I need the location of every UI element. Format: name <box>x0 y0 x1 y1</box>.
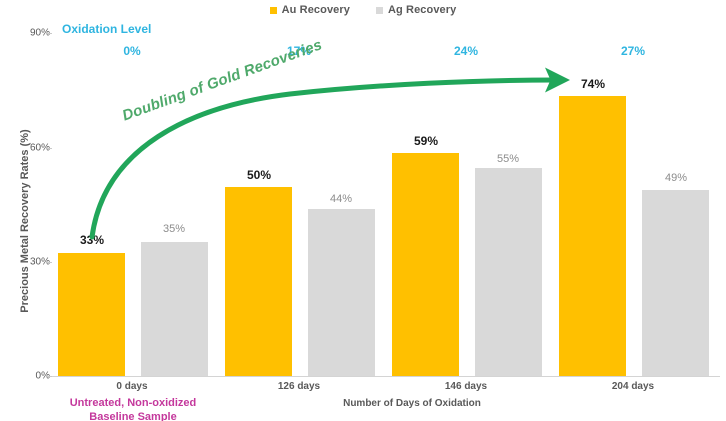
x-category-204-days: 204 days <box>588 381 678 392</box>
bar-ag-204-days[interactable] <box>642 190 709 376</box>
oxidation-value-0: 0% <box>102 44 162 58</box>
legend-label-au: Au Recovery <box>282 4 350 16</box>
bar-ag-146-days[interactable] <box>475 168 542 376</box>
bar-label-au-146-days: 59% <box>414 134 438 148</box>
recovery-rates-chart: Au Recovery Ag Recovery Oxidation Level … <box>0 0 726 421</box>
y-tick-90: 90% <box>10 28 50 39</box>
bar-ag-0-days[interactable] <box>141 242 208 376</box>
baseline-note-line-2: Baseline Sample <box>42 410 224 421</box>
square-swatch-icon <box>376 7 383 14</box>
bar-au-146-days[interactable] <box>392 153 459 376</box>
chart-legend: Au Recovery Ag Recovery <box>0 4 726 16</box>
oxidation-value-3: 27% <box>603 44 663 58</box>
bar-label-au-0-days: 33% <box>80 233 104 247</box>
y-axis-title: Precious Metal Recovery Rates (%) <box>19 76 31 366</box>
x-category-0-days: 0 days <box>87 381 177 392</box>
oxidation-level-title: Oxidation Level <box>62 22 151 36</box>
bar-ag-126-days[interactable] <box>308 209 375 376</box>
bar-label-ag-126-days: 44% <box>330 193 352 205</box>
bar-label-au-126-days: 50% <box>247 168 271 182</box>
bar-au-0-days[interactable] <box>58 253 125 376</box>
y-tick-mark-30 <box>48 262 52 263</box>
bar-label-au-204-days: 74% <box>581 77 605 91</box>
legend-item-au[interactable]: Au Recovery <box>270 4 350 16</box>
bar-au-126-days[interactable] <box>225 187 292 376</box>
square-swatch-icon <box>270 7 277 14</box>
bar-au-204-days[interactable] <box>559 96 626 376</box>
legend-label-ag: Ag Recovery <box>388 4 456 16</box>
y-tick-mark-60 <box>48 148 52 149</box>
oxidation-value-2: 24% <box>436 44 496 58</box>
bar-label-ag-204-days: 49% <box>665 172 687 184</box>
y-tick-0: 0% <box>10 371 50 382</box>
baseline-note-line-1: Untreated, Non-oxidized <box>42 396 224 410</box>
x-axis-line <box>52 376 720 377</box>
x-category-146-days: 146 days <box>421 381 511 392</box>
bar-label-ag-0-days: 35% <box>163 223 185 235</box>
y-tick-mark-90 <box>48 33 52 34</box>
x-category-126-days: 126 days <box>254 381 344 392</box>
bar-label-ag-146-days: 55% <box>497 153 519 165</box>
legend-item-ag[interactable]: Ag Recovery <box>376 4 456 16</box>
x-axis-title: Number of Days of Oxidation <box>252 398 572 409</box>
baseline-sample-note: Untreated, Non-oxidized Baseline Sample <box>42 396 224 421</box>
